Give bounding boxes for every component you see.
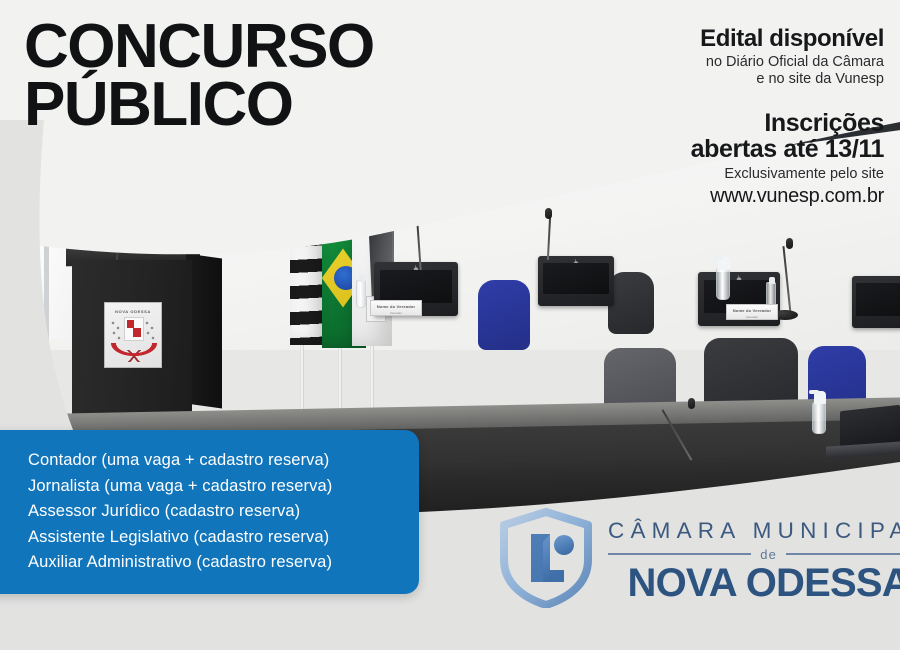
poster-canvas: NOVA ODESSA — [0, 0, 900, 650]
edital-title: Edital disponível — [594, 26, 884, 51]
podium: NOVA ODESSA — [72, 260, 192, 430]
chair-dark-mid — [608, 272, 654, 334]
edital-subtitle-line-1: no Diário Oficial da Câmara — [594, 54, 884, 71]
logo-top-text: CÂMARA MUNICIPAL — [608, 518, 900, 544]
nameplate-left-name: Nome do Vereador — [371, 303, 421, 310]
jobs-list-box: Contador (uma vaga + cadastro reserva) J… — [0, 430, 419, 594]
sanitizer-pump-dais — [716, 268, 730, 300]
headline-line-2: PÚBLICO — [24, 76, 374, 134]
logo-connector: de — [760, 547, 777, 562]
chair-blue-mid — [478, 280, 530, 350]
inscricoes-line-2: abertas até 13/11 — [594, 136, 884, 162]
list-item: Auxiliar Administrativo (cadastro reserv… — [28, 550, 397, 576]
inscricoes-line-1: Inscrições — [594, 110, 884, 136]
edital-subtitle: no Diário Oficial da Câmara e no site da… — [594, 54, 884, 88]
microphone-head-4 — [688, 398, 695, 409]
list-item: Jornalista (uma vaga + cadastro reserva) — [28, 474, 397, 500]
list-item: Assessor Jurídico (cadastro reserva) — [28, 499, 397, 525]
nameplate-left-role: Vereador — [371, 310, 421, 316]
inscricoes-title: Inscrições abertas até 13/11 — [594, 110, 884, 162]
microphone-head-1 — [414, 214, 421, 225]
logo-rule-left — [608, 553, 751, 555]
logo-wordmark: CÂMARA MUNICIPAL de NOVA ODESSA — [608, 514, 900, 603]
microphone-head-3 — [786, 238, 793, 249]
microphone-head-2 — [545, 208, 552, 219]
nameplate-right: Nome do Vereador Vereador — [726, 304, 778, 320]
list-item: Assistente Legislativo (cadastro reserva… — [28, 525, 397, 551]
edital-subtitle-line-2: e no site da Vunesp — [594, 71, 884, 88]
nameplate-right-name: Nome do Vereador — [727, 307, 777, 314]
logo-rule-right — [786, 553, 900, 555]
camara-logo: CÂMARA MUNICIPAL de NOVA ODESSA — [498, 506, 890, 610]
sanitizer-pump-front — [812, 402, 826, 434]
nameplate-right-role: Vereador — [727, 314, 777, 320]
vunesp-website-link[interactable]: www.vunesp.com.br — [594, 185, 884, 207]
monitor-far-right — [852, 276, 900, 328]
shield-icon — [498, 508, 594, 608]
nameplate-left: Nome do Vereador Vereador — [370, 300, 422, 316]
logo-bottom-text: NOVA ODESSA — [608, 563, 900, 603]
city-coat-of-arms-plaque: NOVA ODESSA — [104, 302, 162, 368]
exclusive-note: Exclusivamente pelo site — [594, 166, 884, 183]
list-item: Contador (uma vaga + cadastro reserva) — [28, 448, 397, 474]
water-bottle-left — [356, 280, 366, 308]
info-block: Edital disponível no Diário Oficial da C… — [594, 26, 884, 207]
monitor-center — [538, 256, 614, 306]
page-title: CONCURSO PÚBLICO — [24, 18, 374, 135]
logo-divider-row: de — [608, 547, 900, 562]
